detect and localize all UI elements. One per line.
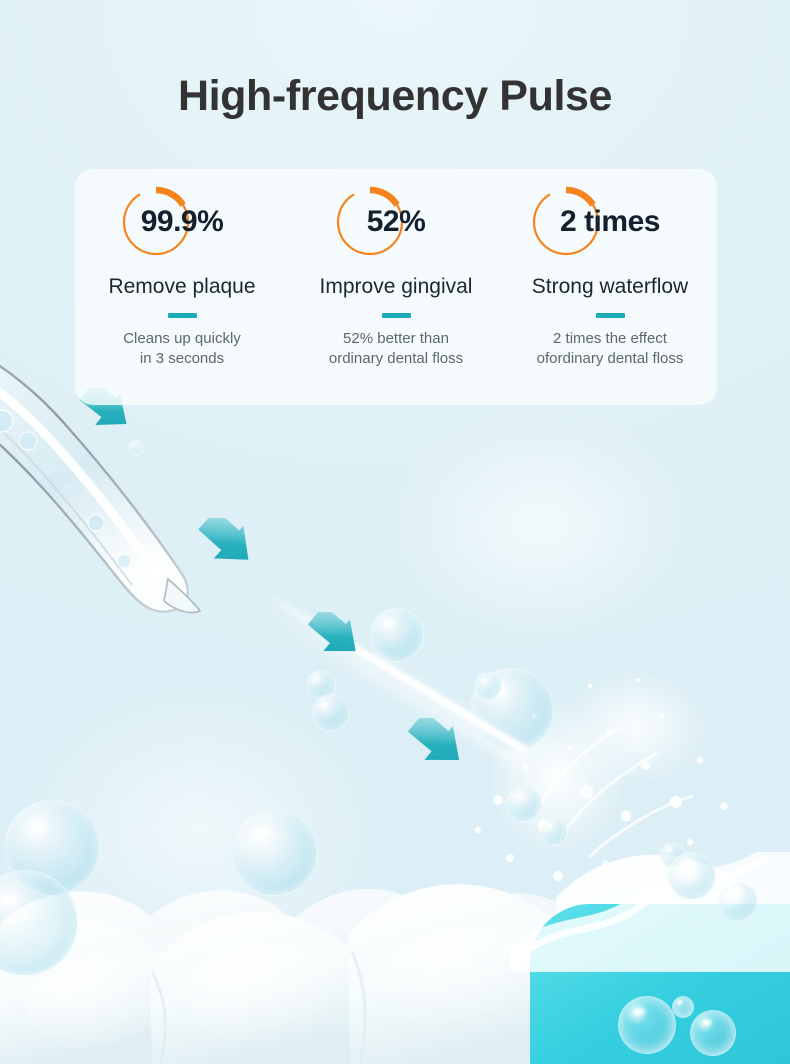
spray-droplets xyxy=(440,620,760,920)
stat-ring-wrap: 2 times xyxy=(503,181,717,263)
bubble xyxy=(470,668,554,752)
stat-ring-wrap: 99.9% xyxy=(75,181,289,263)
teal-flow-arrow xyxy=(306,612,364,666)
water-jet-glow xyxy=(256,592,533,771)
teal-flow-arrow xyxy=(406,718,468,776)
light-bloom xyxy=(330,360,750,690)
stat-desc-line-1: Cleans up quickly xyxy=(75,329,289,349)
stat-label: Remove plaque xyxy=(75,275,289,299)
bubble xyxy=(128,440,144,456)
bubble xyxy=(4,800,100,896)
bubble xyxy=(506,786,542,822)
promo-stage: High-frequency Pulse 99.9% Remove plaque… xyxy=(0,0,790,1064)
stat-desc-line-2: ordinary dental floss xyxy=(289,349,503,369)
stat-desc-line-2: ofordinary dental floss xyxy=(503,349,717,369)
teeth-illustration xyxy=(0,684,790,1064)
bubble xyxy=(474,672,502,700)
stat-divider xyxy=(168,313,197,318)
background-artwork xyxy=(0,0,790,1064)
stat-card-strong-waterflow: 2 times Strong waterflow 2 times the eff… xyxy=(503,169,717,405)
stat-divider xyxy=(596,313,625,318)
bubble xyxy=(306,670,336,700)
stat-value: 52% xyxy=(367,207,426,237)
page-title: High-frequency Pulse xyxy=(0,72,790,121)
stat-desc-line-1: 2 times the effect xyxy=(503,329,717,349)
bubble xyxy=(672,996,694,1018)
bubble xyxy=(690,1010,736,1056)
bubble xyxy=(232,810,318,896)
light-bloom xyxy=(0,620,460,1040)
stat-divider xyxy=(382,313,411,318)
water-spray-burst xyxy=(455,640,745,890)
stat-card-improve-gingival: 52% Improve gingival 52% better than ord… xyxy=(289,169,503,405)
water-jet-stream xyxy=(266,593,527,754)
bubble xyxy=(618,996,676,1054)
bubble xyxy=(668,852,716,900)
stat-value: 99.9% xyxy=(141,207,224,237)
bubble xyxy=(370,608,424,662)
stat-value: 2 times xyxy=(560,207,660,237)
foam-edge xyxy=(510,852,790,972)
bubble xyxy=(0,870,78,976)
cyan-gum-pool xyxy=(530,904,790,1064)
stat-desc-line-1: 52% better than xyxy=(289,329,503,349)
bubble xyxy=(540,818,568,846)
stats-panel: 99.9% Remove plaque Cleans up quickly in… xyxy=(75,169,717,405)
stat-desc-line-2: in 3 seconds xyxy=(75,349,289,369)
stat-card-remove-plaque: 99.9% Remove plaque Cleans up quickly in… xyxy=(75,169,289,405)
stat-ring-wrap: 52% xyxy=(289,181,503,263)
stat-label: Improve gingival xyxy=(289,275,503,299)
bubble xyxy=(718,882,758,922)
bubble xyxy=(660,842,686,868)
bubble xyxy=(312,694,350,732)
stat-label: Strong waterflow xyxy=(503,275,717,299)
teal-flow-arrow xyxy=(196,518,258,574)
